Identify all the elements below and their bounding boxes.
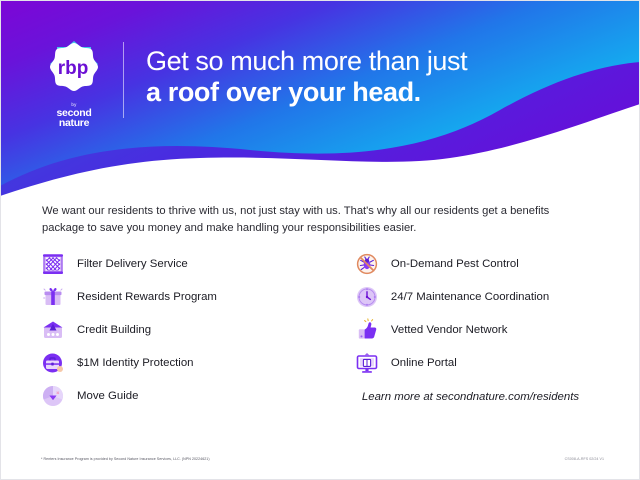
benefit-item-filter-delivery-service: Filter Delivery Service [40, 247, 310, 280]
benefit-item-vetted-vendor-network: Vetted Vendor Network [354, 313, 600, 346]
logo-nature-text: nature [38, 118, 110, 128]
monitor-icon [354, 350, 380, 376]
headline-line-2: a roof over your head. [146, 77, 467, 108]
thumbs-up-icon [354, 317, 380, 343]
learn-more-text: Learn more at secondnature.com/residents [354, 391, 600, 403]
gift-box-icon [40, 284, 66, 310]
page-title: Get so much more than just a roof over y… [146, 46, 467, 108]
benefit-item-online-portal: Online Portal [354, 346, 600, 379]
logo-by-text: by [38, 103, 110, 108]
benefit-label: $1M Identity Protection [77, 357, 194, 369]
benefit-label: Online Portal [391, 357, 457, 369]
benefit-label: 24/7 Maintenance Coordination [391, 291, 549, 303]
benefit-label: Vetted Vendor Network [391, 324, 508, 336]
benefits-right-column: On-Demand Pest Control [330, 247, 600, 412]
credit-house-icon [40, 317, 66, 343]
compass-icon [40, 383, 66, 409]
benefits-section: Filter Delivery Service Residen [40, 247, 600, 412]
rbp-logo: rbp ™ by second nature [38, 38, 110, 128]
clock-icon [354, 284, 380, 310]
logo-divider [123, 42, 124, 118]
pest-control-icon [354, 251, 380, 277]
benefit-item-resident-rewards-program: Resident Rewards Program [40, 280, 310, 313]
air-filter-icon [40, 251, 66, 277]
benefit-label: On-Demand Pest Control [391, 258, 519, 270]
promotional-flyer: rbp ™ by second nature Get so much more … [0, 0, 640, 480]
benefit-item-move-guide: Move Guide [40, 379, 310, 412]
footer-disclaimer: * Renters Insurance Program is provided … [41, 457, 210, 461]
headline-line-1: Get so much more than just [146, 46, 467, 77]
footer-document-code: CS008-A-RFS 02/24 V1 [565, 457, 604, 461]
benefit-item-credit-building: Credit Building [40, 313, 310, 346]
rbp-badge-icon: rbp ™ [43, 38, 105, 100]
logo-second-text: second [38, 108, 110, 118]
briefcase-shield-icon [40, 350, 66, 376]
benefit-label: Filter Delivery Service [77, 258, 188, 270]
svg-text:™: ™ [93, 57, 98, 63]
rbp-logo-mark: rbp ™ [43, 38, 105, 100]
benefits-left-column: Filter Delivery Service Residen [40, 247, 310, 412]
header-banner: rbp ™ by second nature Get so much more … [0, 0, 640, 196]
benefit-label: Resident Rewards Program [77, 291, 217, 303]
benefit-label: Credit Building [77, 324, 151, 336]
svg-text:rbp: rbp [58, 58, 89, 79]
rbp-logo-subtitle: by second nature [38, 103, 110, 128]
benefit-item-maintenance-coordination: 24/7 Maintenance Coordination [354, 280, 600, 313]
benefit-label: Move Guide [77, 390, 138, 402]
benefit-item-identity-protection: $1M Identity Protection [40, 346, 310, 379]
intro-paragraph: We want our residents to thrive with us,… [42, 203, 592, 237]
benefit-item-pest-control: On-Demand Pest Control [354, 247, 600, 280]
